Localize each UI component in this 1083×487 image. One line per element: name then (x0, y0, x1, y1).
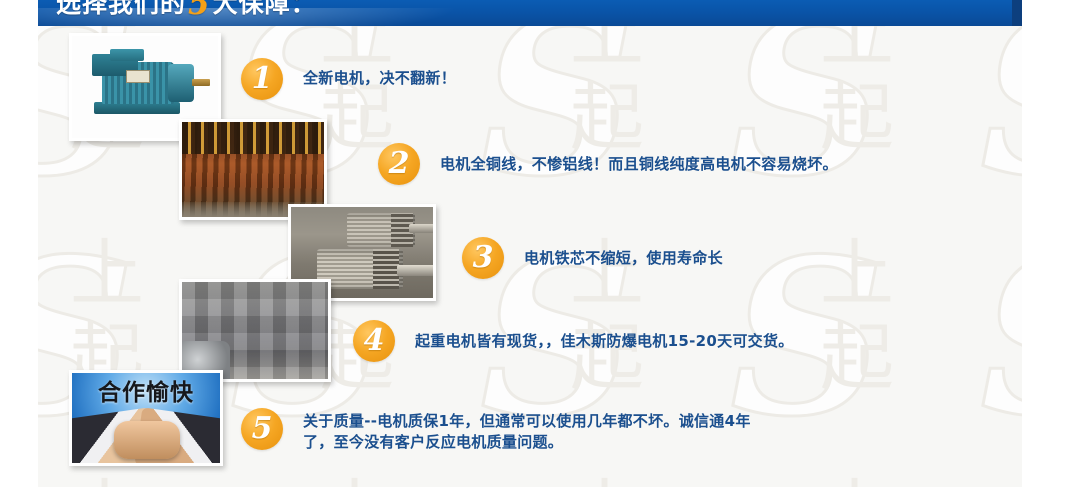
watermark-logo-letter: S (980, 470, 1022, 487)
guarantee-text-3: 电机铁芯不缩短，使用寿命长 (524, 248, 723, 269)
watermark-char-top: 上 (820, 232, 894, 316)
guarantee-badge-3: 3 (462, 237, 504, 279)
guarantee-text-4: 起重电机皆有现货，，佳木斯防爆电机15-20天可交货。 (415, 331, 794, 352)
handshake-grip (114, 421, 180, 459)
watermark-char-top: 上 (70, 232, 144, 316)
watermark-char-bottom: 起 (820, 316, 894, 400)
watermark-logo-letter: S (980, 26, 1022, 205)
watermark-char-top: 上 (570, 472, 644, 487)
watermark-tile: S上起 (478, 26, 728, 226)
watermark-tile: S上起 (978, 466, 1022, 487)
guarantee-badge-2: 2 (378, 143, 420, 185)
motor-stock-photo (179, 279, 331, 382)
watermark-characters: 上起 (820, 26, 894, 160)
section-header-bar: 选择我们的5大保障： (38, 0, 1022, 26)
watermark-char-top: 上 (70, 472, 144, 487)
guarantee-row-4: 4 起重电机皆有现货，，佳木斯防爆电机15-20天可交货。 (353, 320, 794, 362)
guarantee-text-5: 关于质量--电机质保1年，但通常可以使用几年都不坏。诚信通4年 了，至今没有客户… (303, 411, 751, 453)
guarantee-number-4: 4 (353, 320, 395, 362)
guarantee-row-2: 2 电机全铜线，不惨铝线！而且铜线纯度高电机不容易烧坏。 (378, 143, 838, 185)
guarantee-number-2: 2 (378, 143, 420, 185)
motor-shaft (192, 79, 210, 86)
page-title-suffix: 大保障： (213, 0, 317, 18)
guarantee-row-3: 3 电机铁芯不缩短，使用寿命长 (462, 237, 723, 279)
watermark-tile: S上起 (728, 466, 978, 487)
watermark-tile: S上起 (228, 466, 478, 487)
watermark-tile: S上起 (38, 466, 228, 487)
guarantee-number-1: 1 (241, 58, 283, 100)
guarantee-text-1: 全新电机，决不翻新！ (303, 68, 456, 89)
motor-cap (110, 49, 144, 61)
watermark-char-top: 上 (820, 472, 894, 487)
guarantee-row-5: 5 关于质量--电机质保1年，但通常可以使用几年都不坏。诚信通4年 了，至今没有… (241, 408, 751, 453)
watermark-characters: 上起 (320, 472, 394, 487)
rotor-fins-lower (373, 249, 399, 289)
rotor-shaft-lower (397, 265, 433, 276)
guarantee-number-3: 3 (462, 237, 504, 279)
motor-nameplate (126, 70, 150, 83)
handshake-caption: 合作愉快 (72, 380, 220, 406)
handshake-photo: 合作愉快 (69, 370, 223, 466)
watermark-characters: 上起 (570, 26, 644, 160)
rotor-shaft-upper (409, 224, 433, 233)
guarantee-badge-4: 4 (353, 320, 395, 362)
watermark-characters: 上起 (820, 472, 894, 487)
guarantee-badge-5: 5 (241, 408, 283, 450)
page-title-number: 5 (188, 0, 211, 19)
page-title: 选择我们的5大保障： (56, 0, 317, 19)
watermark-tile: S上起 (978, 26, 1022, 226)
page-title-prefix: 选择我们的 (56, 0, 186, 18)
watermark-characters: 上起 (70, 472, 144, 487)
watermark-char-top: 上 (320, 472, 394, 487)
watermark-logo-letter: S (980, 230, 1022, 445)
watermark-char-top: 上 (570, 26, 644, 76)
watermark-tile: S上起 (728, 26, 978, 226)
promo-page: S上起S上起S上起S上起S上起S上起S上起S上起S上起S上起S上起S上起S上起S… (0, 0, 1083, 487)
motor-end-bell (168, 64, 194, 102)
watermark-tile: S上起 (478, 466, 728, 487)
guarantee-badge-1: 1 (241, 58, 283, 100)
watermark-tile: S上起 (978, 226, 1022, 466)
watermark-characters: 上起 (820, 232, 894, 400)
watermark-characters: 上起 (570, 472, 644, 487)
guarantee-row-1: 1 全新电机，决不翻新！ (241, 58, 456, 100)
guarantee-text-2: 电机全铜线，不惨铝线！而且铜线纯度高电机不容易烧坏。 (440, 154, 838, 175)
watermark-char-top: 上 (820, 26, 894, 76)
guarantee-number-5: 5 (241, 408, 283, 450)
